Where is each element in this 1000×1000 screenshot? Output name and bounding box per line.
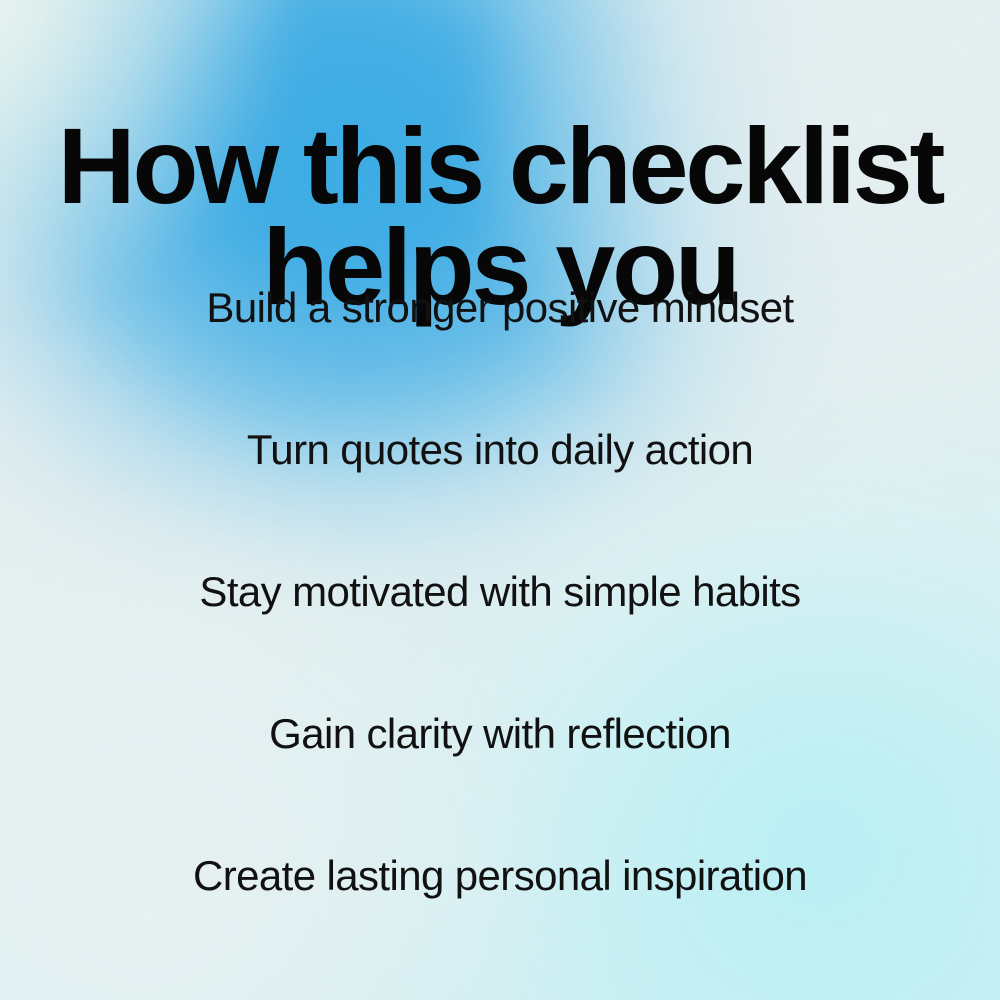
list-item: Turn quotes into daily action [0,429,1000,571]
list-item: Build a stronger positive mindset [0,287,1000,429]
list-item: Stay motivated with simple habits [0,571,1000,713]
benefits-list: Build a stronger positive mindset Turn q… [0,287,1000,997]
list-item: Create lasting personal inspiration [0,855,1000,997]
poster-canvas: How this checklist helps you Build a str… [0,0,1000,1000]
poster-content: How this checklist helps you Build a str… [0,0,1000,1000]
list-item: Gain clarity with reflection [0,713,1000,855]
